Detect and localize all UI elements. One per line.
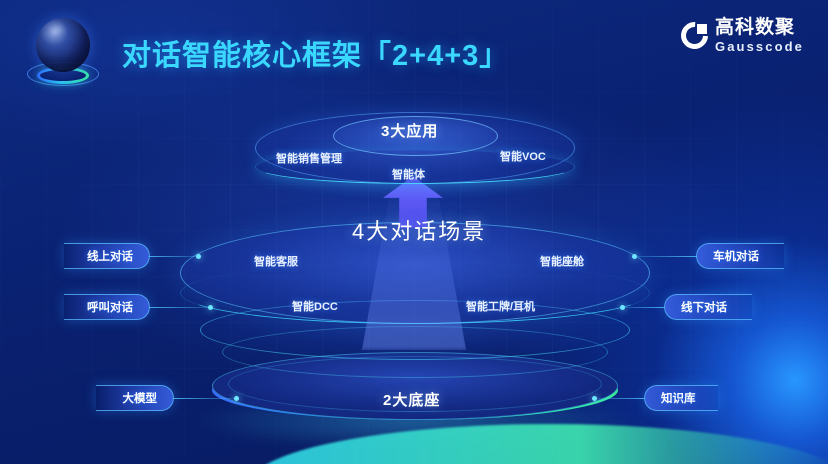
- pill-vehicle-dialogue[interactable]: 车机对话: [696, 243, 784, 269]
- gausscode-g-mark-icon: [681, 22, 708, 49]
- pill-call-dialogue[interactable]: 呼叫对话: [64, 294, 150, 320]
- page-title: 对话智能核心框架「2+4+3」: [122, 32, 509, 74]
- connector-line: [148, 256, 198, 257]
- connector-dot: [208, 305, 213, 310]
- brand-name-cn: 高科数聚: [715, 18, 804, 37]
- slide-header: 对话智能核心框架「2+4+3」 高科数聚 Gausscode: [0, 0, 828, 100]
- brand-logo: 高科数聚 Gausscode: [681, 18, 804, 53]
- pill-online-dialogue[interactable]: 线上对话: [64, 243, 150, 269]
- connector-line: [624, 307, 666, 308]
- sphere-on-ring-icon: [27, 18, 99, 90]
- pill-large-model[interactable]: 大模型: [96, 385, 174, 411]
- connector-line: [596, 398, 646, 399]
- layer-title-scenarios: 4大对话场景: [352, 214, 486, 246]
- slide-canvas: 对话智能核心框架「2+4+3」 高科数聚 Gausscode 3大应用 智能销售…: [0, 0, 828, 464]
- node-intelligent-dcc: 智能DCC: [292, 298, 338, 314]
- pill-offline-dialogue[interactable]: 线下对话: [664, 294, 752, 320]
- connector-dot: [234, 396, 239, 401]
- pill-knowledge-base[interactable]: 知识库: [644, 385, 718, 411]
- node-intelligent-badge-headset: 智能工牌/耳机: [466, 298, 535, 314]
- connector-dot: [196, 254, 201, 259]
- connector-dot: [620, 305, 625, 310]
- connector-line: [148, 307, 210, 308]
- connector-line: [172, 398, 236, 399]
- node-intelligent-customer-service: 智能客服: [254, 253, 298, 269]
- node-agent: 智能体: [392, 166, 425, 182]
- layer-title-foundations: 2大底座: [383, 389, 440, 410]
- brand-name-en: Gausscode: [715, 40, 804, 53]
- node-intelligent-sales-management: 智能销售管理: [276, 150, 342, 166]
- node-intelligent-voc: 智能VOC: [500, 148, 546, 164]
- connector-dot: [632, 254, 637, 259]
- connector-line: [636, 256, 698, 257]
- layer-title-applications: 3大应用: [381, 120, 438, 141]
- connector-dot: [592, 396, 597, 401]
- sphere-ball: [36, 18, 90, 72]
- node-intelligent-cockpit: 智能座舱: [540, 253, 584, 269]
